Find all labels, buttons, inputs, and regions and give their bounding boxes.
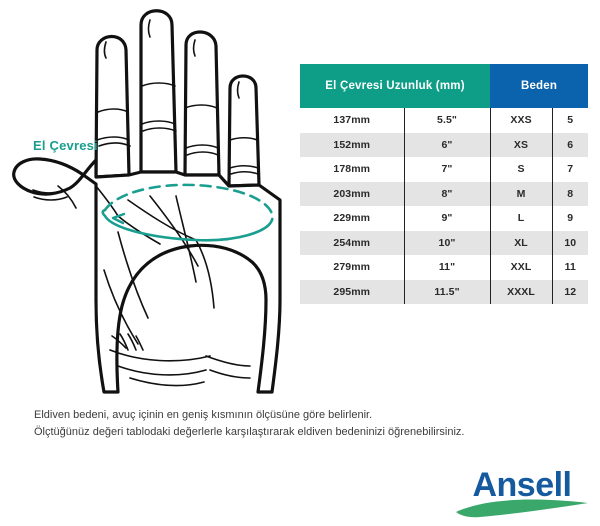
cell-size-alpha: XXS xyxy=(490,108,552,133)
cell-size-alpha: XL xyxy=(490,231,552,256)
cell-circumference-inch: 5.5" xyxy=(404,108,490,133)
cell-size-number: 5 xyxy=(552,108,588,133)
cell-circumference-mm: 254mm xyxy=(300,231,404,256)
cell-circumference-mm: 178mm xyxy=(300,157,404,182)
hand-outline xyxy=(14,11,280,392)
cell-size-number: 10 xyxy=(552,231,588,256)
cell-size-number: 8 xyxy=(552,182,588,207)
instruction-line-1: Eldiven bedeni, avuç içinin en geniş kıs… xyxy=(34,407,579,424)
table-row: 229mm 9" L 9 xyxy=(300,206,588,231)
cell-size-number: 11 xyxy=(552,255,588,280)
cell-size-alpha: L xyxy=(490,206,552,231)
column-header-size: Beden xyxy=(490,64,588,108)
cell-circumference-mm: 152mm xyxy=(300,133,404,158)
cell-size-number: 12 xyxy=(552,280,588,305)
table-row: 279mm 11" XXL 11 xyxy=(300,255,588,280)
cell-size-alpha: XXL xyxy=(490,255,552,280)
cell-circumference-mm: 203mm xyxy=(300,182,404,207)
table-row: 137mm 5.5" XXS 5 xyxy=(300,108,588,133)
table-row: 203mm 8" M 8 xyxy=(300,182,588,207)
glove-size-table: El Çevresi Uzunluk (mm) Beden 137mm 5.5"… xyxy=(300,64,588,304)
table-row: 178mm 7" S 7 xyxy=(300,157,588,182)
hand-circumference-label: El Çevresi xyxy=(33,138,98,153)
hand-illustration xyxy=(0,0,300,410)
cell-circumference-mm: 137mm xyxy=(300,108,404,133)
instructions-text: Eldiven bedeni, avuç içinin en geniş kıs… xyxy=(34,407,579,440)
table-row: 254mm 10" XL 10 xyxy=(300,231,588,256)
cell-circumference-inch: 6" xyxy=(404,133,490,158)
cell-size-number: 6 xyxy=(552,133,588,158)
cell-circumference-mm: 295mm xyxy=(300,280,404,305)
cell-circumference-inch: 11.5" xyxy=(404,280,490,305)
cell-circumference-mm: 229mm xyxy=(300,206,404,231)
cell-size-alpha: XXXL xyxy=(490,280,552,305)
cell-circumference-inch: 8" xyxy=(404,182,490,207)
cell-circumference-inch: 7" xyxy=(404,157,490,182)
cell-circumference-inch: 11" xyxy=(404,255,490,280)
cell-size-alpha: M xyxy=(490,182,552,207)
cell-circumference-inch: 10" xyxy=(404,231,490,256)
table-header-row: El Çevresi Uzunluk (mm) Beden xyxy=(300,64,588,108)
instruction-line-2: Ölçtüğünüz değeri tablodaki değerlerle k… xyxy=(34,424,579,441)
cell-size-alpha: S xyxy=(490,157,552,182)
cell-size-number: 7 xyxy=(552,157,588,182)
cell-circumference-inch: 9" xyxy=(404,206,490,231)
cell-circumference-mm: 279mm xyxy=(300,255,404,280)
table-body: 137mm 5.5" XXS 5 152mm 6" XS 6 178mm 7" … xyxy=(300,108,588,304)
cell-size-alpha: XS xyxy=(490,133,552,158)
ansell-swoosh-icon xyxy=(452,494,592,518)
table-row: 152mm 6" XS 6 xyxy=(300,133,588,158)
table-row: 295mm 11.5" XXXL 12 xyxy=(300,280,588,305)
ansell-logo: Ansell xyxy=(452,468,592,520)
cell-size-number: 9 xyxy=(552,206,588,231)
column-header-hand-circumference: El Çevresi Uzunluk (mm) xyxy=(300,64,490,108)
